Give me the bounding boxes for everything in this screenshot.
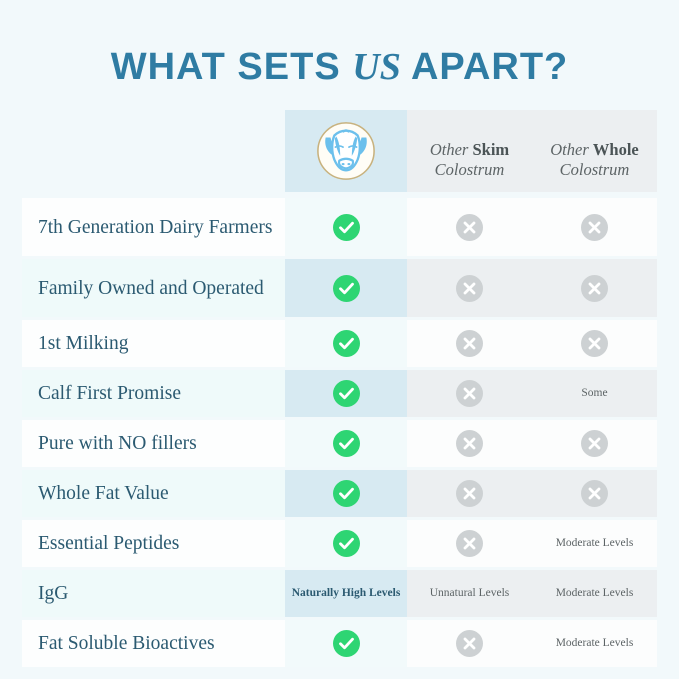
row-feature-text: 7th Generation Dairy Farmers	[38, 216, 272, 239]
table-row: Essential Peptides Moderate Levels	[22, 520, 657, 567]
table-row: 7th Generation Dairy Farmers	[22, 198, 657, 256]
row-whole-cell: Moderate Levels	[532, 520, 657, 567]
row-whole-cell	[532, 420, 657, 467]
header-whole-line2: Colostrum	[560, 160, 630, 179]
row-skim-cell	[407, 198, 532, 256]
check-circle-icon	[333, 430, 360, 457]
row-feature-label: Calf First Promise	[22, 370, 285, 417]
header-feature-cell	[22, 110, 285, 192]
row-brand-cell	[285, 198, 407, 256]
page-title: WHAT SETS US APART?	[0, 0, 679, 89]
page-title-before: WHAT SETS	[111, 46, 353, 88]
comparison-page: WHAT SETS US APART? Other Skim Colostrum…	[0, 0, 679, 679]
row-feature-text: IgG	[38, 582, 68, 605]
row-whole-cell: Moderate Levels	[532, 620, 657, 667]
row-skim-cell	[407, 320, 532, 367]
x-circle-icon	[456, 275, 483, 302]
row-whole-cell	[532, 198, 657, 256]
table-row: Family Owned and Operated	[22, 259, 657, 317]
header-skim-bold: Skim	[472, 140, 509, 159]
check-circle-icon	[333, 214, 360, 241]
row-brand-cell	[285, 520, 407, 567]
x-circle-icon	[581, 330, 608, 357]
row-feature-text: Calf First Promise	[38, 382, 181, 405]
header-skim-line2: Colostrum	[435, 160, 505, 179]
table-row: Pure with NO fillers	[22, 420, 657, 467]
cell-value-text: Moderate Levels	[550, 636, 640, 650]
check-circle-icon	[333, 380, 360, 407]
row-brand-cell: Naturally High Levels	[285, 570, 407, 617]
table-row: IgG Naturally High Levels Unnatural Leve…	[22, 570, 657, 617]
row-brand-cell	[285, 320, 407, 367]
cell-value-text: Moderate Levels	[550, 586, 640, 600]
row-feature-label: Whole Fat Value	[22, 470, 285, 517]
row-feature-label: 1st Milking	[22, 320, 285, 367]
check-circle-icon	[333, 480, 360, 507]
comparison-table: Other Skim Colostrum Other Whole Colostr…	[22, 110, 657, 667]
table-row: Whole Fat Value	[22, 470, 657, 517]
row-feature-text: Pure with NO fillers	[38, 432, 197, 455]
page-title-emphasis: US	[352, 46, 401, 88]
x-circle-icon	[581, 430, 608, 457]
row-brand-cell	[285, 620, 407, 667]
x-circle-icon	[456, 214, 483, 241]
row-skim-cell	[407, 620, 532, 667]
row-feature-label: Pure with NO fillers	[22, 420, 285, 467]
row-feature-text: Fat Soluble Bioactives	[38, 632, 215, 655]
check-circle-icon	[333, 630, 360, 657]
header-whole-cell: Other Whole Colostrum	[532, 110, 657, 192]
row-skim-cell	[407, 370, 532, 417]
x-circle-icon	[581, 214, 608, 241]
header-brand-cell	[285, 110, 407, 192]
row-feature-text: Essential Peptides	[38, 532, 179, 555]
cell-value-text: Moderate Levels	[550, 536, 640, 550]
row-feature-label: Fat Soluble Bioactives	[22, 620, 285, 667]
cell-value-text: Naturally High Levels	[286, 586, 407, 600]
row-brand-cell	[285, 420, 407, 467]
x-circle-icon	[456, 480, 483, 507]
row-skim-cell: Unnatural Levels	[407, 570, 532, 617]
check-circle-icon	[333, 275, 360, 302]
row-feature-label: Essential Peptides	[22, 520, 285, 567]
x-circle-icon	[456, 630, 483, 657]
check-circle-icon	[333, 530, 360, 557]
row-brand-cell	[285, 470, 407, 517]
row-skim-cell	[407, 259, 532, 317]
header-skim-cell: Other Skim Colostrum	[407, 110, 532, 192]
row-feature-label: IgG	[22, 570, 285, 617]
table-header-row: Other Skim Colostrum Other Whole Colostr…	[22, 110, 657, 192]
x-circle-icon	[456, 430, 483, 457]
row-brand-cell	[285, 370, 407, 417]
page-title-after: APART?	[401, 46, 568, 88]
header-skim-italic: Other	[430, 140, 473, 159]
row-skim-cell	[407, 520, 532, 567]
x-circle-icon	[581, 480, 608, 507]
table-row: Fat Soluble Bioactives Moderate Levels	[22, 620, 657, 667]
row-whole-cell: Moderate Levels	[532, 570, 657, 617]
x-circle-icon	[581, 275, 608, 302]
row-feature-label: Family Owned and Operated	[22, 259, 285, 317]
row-skim-cell	[407, 470, 532, 517]
table-row: 1st Milking	[22, 320, 657, 367]
row-brand-cell	[285, 259, 407, 317]
cell-value-text: Unnatural Levels	[424, 586, 516, 600]
row-feature-text: 1st Milking	[38, 332, 128, 355]
cell-value-text: Some	[575, 386, 613, 400]
row-feature-text: Whole Fat Value	[38, 482, 169, 505]
row-skim-cell	[407, 420, 532, 467]
header-whole-italic: Other	[550, 140, 593, 159]
row-whole-cell	[532, 320, 657, 367]
row-feature-text: Family Owned and Operated	[38, 277, 264, 300]
row-feature-label: 7th Generation Dairy Farmers	[22, 198, 285, 256]
check-circle-icon	[333, 330, 360, 357]
table-row: Calf First Promise Some	[22, 370, 657, 417]
row-whole-cell	[532, 259, 657, 317]
x-circle-icon	[456, 330, 483, 357]
x-circle-icon	[456, 530, 483, 557]
row-whole-cell	[532, 470, 657, 517]
x-circle-icon	[456, 380, 483, 407]
header-whole-bold: Whole	[593, 140, 639, 159]
cow-head-logo-svg	[315, 120, 377, 182]
row-whole-cell: Some	[532, 370, 657, 417]
